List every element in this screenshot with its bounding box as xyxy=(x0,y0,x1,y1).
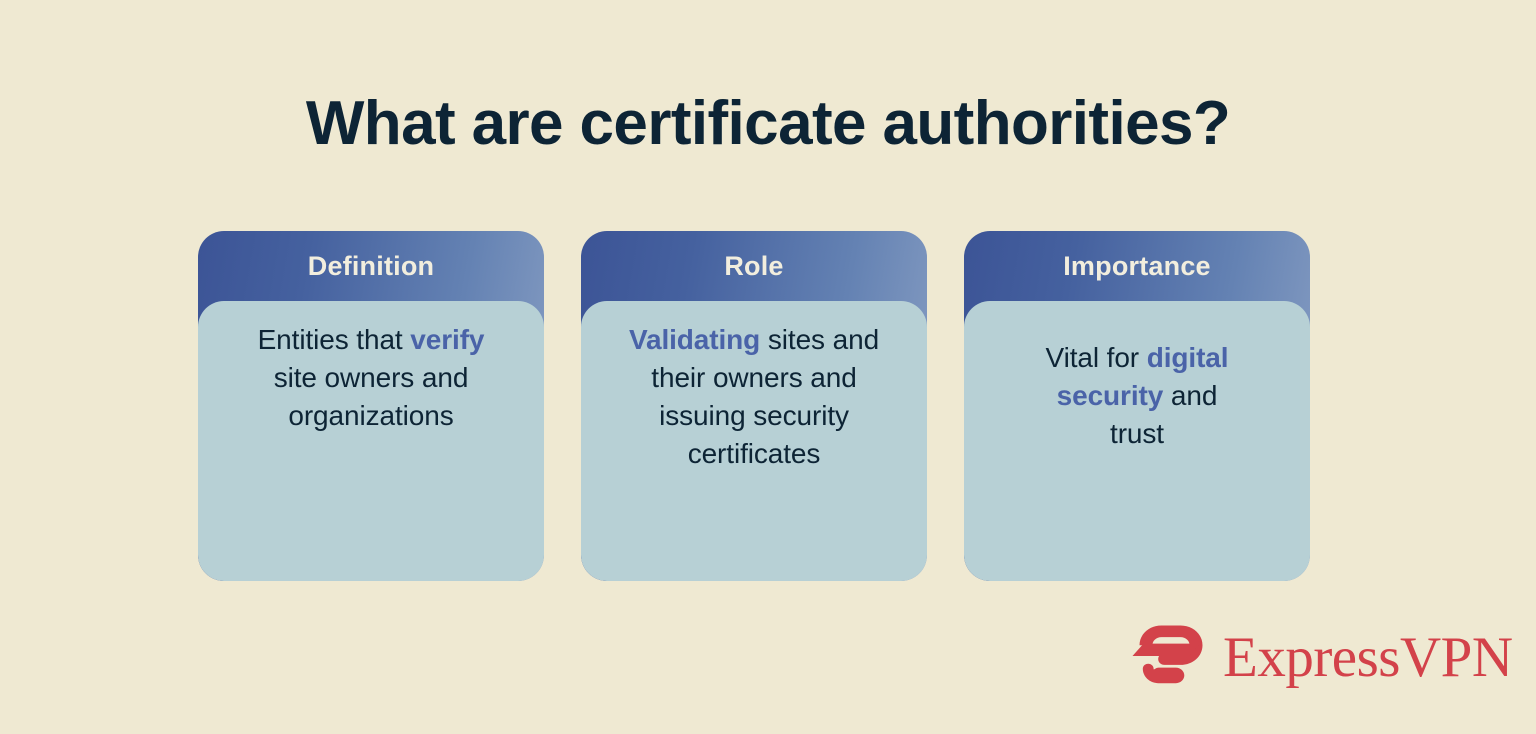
highlighted-term: security xyxy=(1057,380,1164,411)
highlighted-term: digital xyxy=(1147,342,1229,373)
card-text-line: organizations xyxy=(220,397,522,435)
card-text-line: Entities that verify xyxy=(220,321,522,359)
card-text-line: Validating sites and xyxy=(603,321,905,359)
card-text-line: trust xyxy=(986,415,1288,453)
card-body: Vital for digitalsecurity andtrust xyxy=(964,301,1310,581)
expressvpn-wordmark: ExpressVPN xyxy=(1223,628,1513,688)
card-body: Entities that verifysite owners andorgan… xyxy=(198,301,544,581)
card-body: Validating sites andtheir owners andissu… xyxy=(581,301,927,581)
card-text-line: site owners and xyxy=(220,359,522,397)
infographic-canvas: What are certificate authorities? Defini… xyxy=(0,0,1536,734)
card-text: Vital for digitalsecurity andtrust xyxy=(986,339,1288,453)
highlighted-term: verify xyxy=(410,324,484,355)
card-text-line: issuing security xyxy=(603,397,905,435)
expressvpn-e-mark-icon xyxy=(1131,622,1209,694)
text-segment: and xyxy=(1163,380,1217,411)
text-segment: Entities that xyxy=(258,324,411,355)
text-segment: Vital for xyxy=(1046,342,1147,373)
card-text-line: Vital for digital xyxy=(986,339,1288,377)
card-text-line: certificates xyxy=(603,435,905,473)
text-segment: certificates xyxy=(688,438,821,469)
highlighted-term: Validating xyxy=(629,324,760,355)
text-segment: trust xyxy=(1110,418,1164,449)
card-definition: Definition Entities that verifysite owne… xyxy=(198,231,544,581)
text-segment: issuing security xyxy=(659,400,849,431)
card-header-label: Role xyxy=(581,231,927,301)
card-header-label: Definition xyxy=(198,231,544,301)
card-importance: Importance Vital for digitalsecurity and… xyxy=(964,231,1310,581)
card-role: Role Validating sites andtheir owners an… xyxy=(581,231,927,581)
card-header-label: Importance xyxy=(964,231,1310,301)
text-segment: site owners and xyxy=(274,362,469,393)
page-title: What are certificate authorities? xyxy=(0,86,1536,162)
card-text-line: their owners and xyxy=(603,359,905,397)
expressvpn-logo: ExpressVPN xyxy=(1131,618,1451,698)
text-segment: sites and xyxy=(760,324,879,355)
text-segment: organizations xyxy=(288,400,453,431)
cards-row: Definition Entities that verifysite owne… xyxy=(198,231,1310,581)
card-text: Validating sites andtheir owners andissu… xyxy=(603,321,905,473)
card-text: Entities that verifysite owners andorgan… xyxy=(220,321,522,435)
card-text-line: security and xyxy=(986,377,1288,415)
text-segment: their owners and xyxy=(651,362,856,393)
